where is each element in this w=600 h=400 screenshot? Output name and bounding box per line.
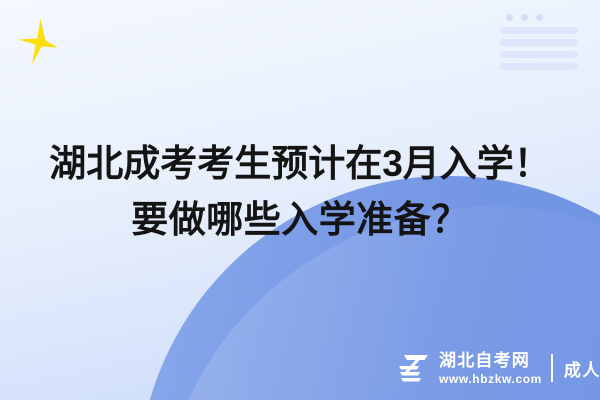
promo-banner: 湖北成考考生预计在3月入学！ 要做哪些入学准备？ 湖北自考网 www.hbzkw… (0, 0, 600, 400)
document-dot (506, 14, 513, 21)
brand-logo-lockup: 湖北自考网 www.hbzkw.com 成人高考 (398, 348, 600, 388)
document-line (500, 39, 578, 46)
headline-line-1: 湖北成考考生预计在3月入学！ (0, 136, 600, 192)
document-decoration (500, 14, 582, 68)
document-line (500, 27, 578, 34)
logo-divider (551, 354, 553, 382)
document-dots (506, 14, 582, 21)
headline-line-2: 要做哪些入学准备？ (0, 192, 600, 248)
star-decoration (14, 16, 60, 68)
document-line (500, 51, 578, 58)
document-dot (521, 14, 528, 21)
brand-tagline: 成人高考 (564, 356, 600, 381)
document-line (500, 63, 578, 70)
brand-url: www.hbzkw.com (439, 373, 542, 385)
brand-name: 湖北自考网 (439, 352, 542, 369)
headline: 湖北成考考生预计在3月入学！ 要做哪些入学准备？ (0, 136, 600, 248)
document-dot (536, 14, 543, 21)
brand-text-block: 湖北自考网 www.hbzkw.com (439, 352, 542, 385)
hbzkw-z-mark-icon (398, 353, 432, 383)
star-icon (14, 16, 60, 68)
